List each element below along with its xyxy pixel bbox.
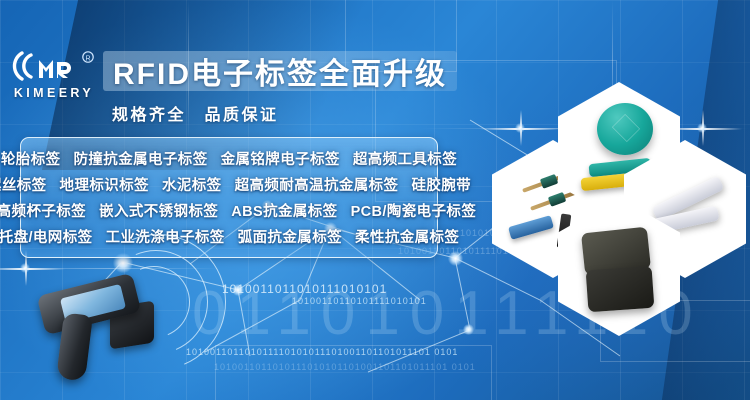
tag-item[interactable]: 硅胶腕带 (411, 174, 471, 195)
binary-row-3: 10100110110101111010101 (292, 296, 427, 306)
tag-item[interactable]: 柔性抗金属标签 (355, 226, 459, 247)
binary-row-4: 1010011011010111010101101001101101011101… (214, 362, 476, 372)
page-title: RFID电子标签全面升级 (113, 49, 447, 93)
brand-logo[interactable]: R KIMEERY (8, 44, 100, 114)
tag-item[interactable]: 托盘/电网标签 (0, 226, 93, 247)
logo-wordmark: KIMEERY (8, 86, 100, 100)
tag-category-panel: 轮胎标签 防撞抗金属电子标签 金属铭牌电子标签 超高频工具标签 螺丝标签 地理标… (20, 137, 438, 258)
tag-item[interactable]: 螺丝标签 (0, 174, 47, 195)
rfid-promo-banner: 011010111110 1010011011010111010101 1010… (0, 0, 750, 400)
tag-row: 托盘/电网标签 工业洗涤电子标签 弧面抗金属标签 柔性抗金属标签 (25, 223, 433, 249)
tag-item[interactable]: 水泥标签 (162, 174, 222, 195)
binary-row-1: 1010011011010111101010111010011011010111… (186, 347, 458, 357)
tag-item[interactable]: 弧面抗金属标签 (238, 226, 342, 247)
page-subtitle: 规格齐全 品质保证 (112, 101, 279, 125)
tag-row: 轮胎标签 防撞抗金属电子标签 金属铭牌电子标签 超高频工具标签 (25, 145, 433, 171)
tag-item[interactable]: 地理标识标签 (60, 174, 149, 195)
headline-band: RFID电子标签全面升级 (103, 51, 457, 91)
tag-item[interactable]: 超高频杯子标签 (0, 200, 86, 221)
binary-row-2: 1010011011010111010101 (222, 282, 387, 296)
tag-item[interactable]: 防撞抗金属电子标签 (74, 148, 208, 169)
registered-trademark-glyph: R (85, 56, 90, 63)
tag-item[interactable]: 嵌入式不锈钢标签 (99, 200, 218, 221)
tag-item[interactable]: 超高频耐高温抗金属标签 (235, 174, 399, 195)
logo-mark: R (8, 44, 100, 88)
tag-item[interactable]: ABS抗金属标签 (231, 200, 337, 221)
tag-row: 超高频杯子标签 嵌入式不锈钢标签 ABS抗金属标签 PCB/陶瓷电子标签 (25, 197, 433, 223)
tag-item[interactable]: PCB/陶瓷电子标签 (351, 200, 477, 221)
tag-item[interactable]: 金属铭牌电子标签 (221, 148, 340, 169)
tag-row: 螺丝标签 地理标识标签 水泥标签 超高频耐高温抗金属标签 硅胶腕带 (25, 171, 433, 197)
tag-item[interactable]: 超高频工具标签 (353, 148, 457, 169)
tag-item[interactable]: 轮胎标签 (1, 148, 61, 169)
